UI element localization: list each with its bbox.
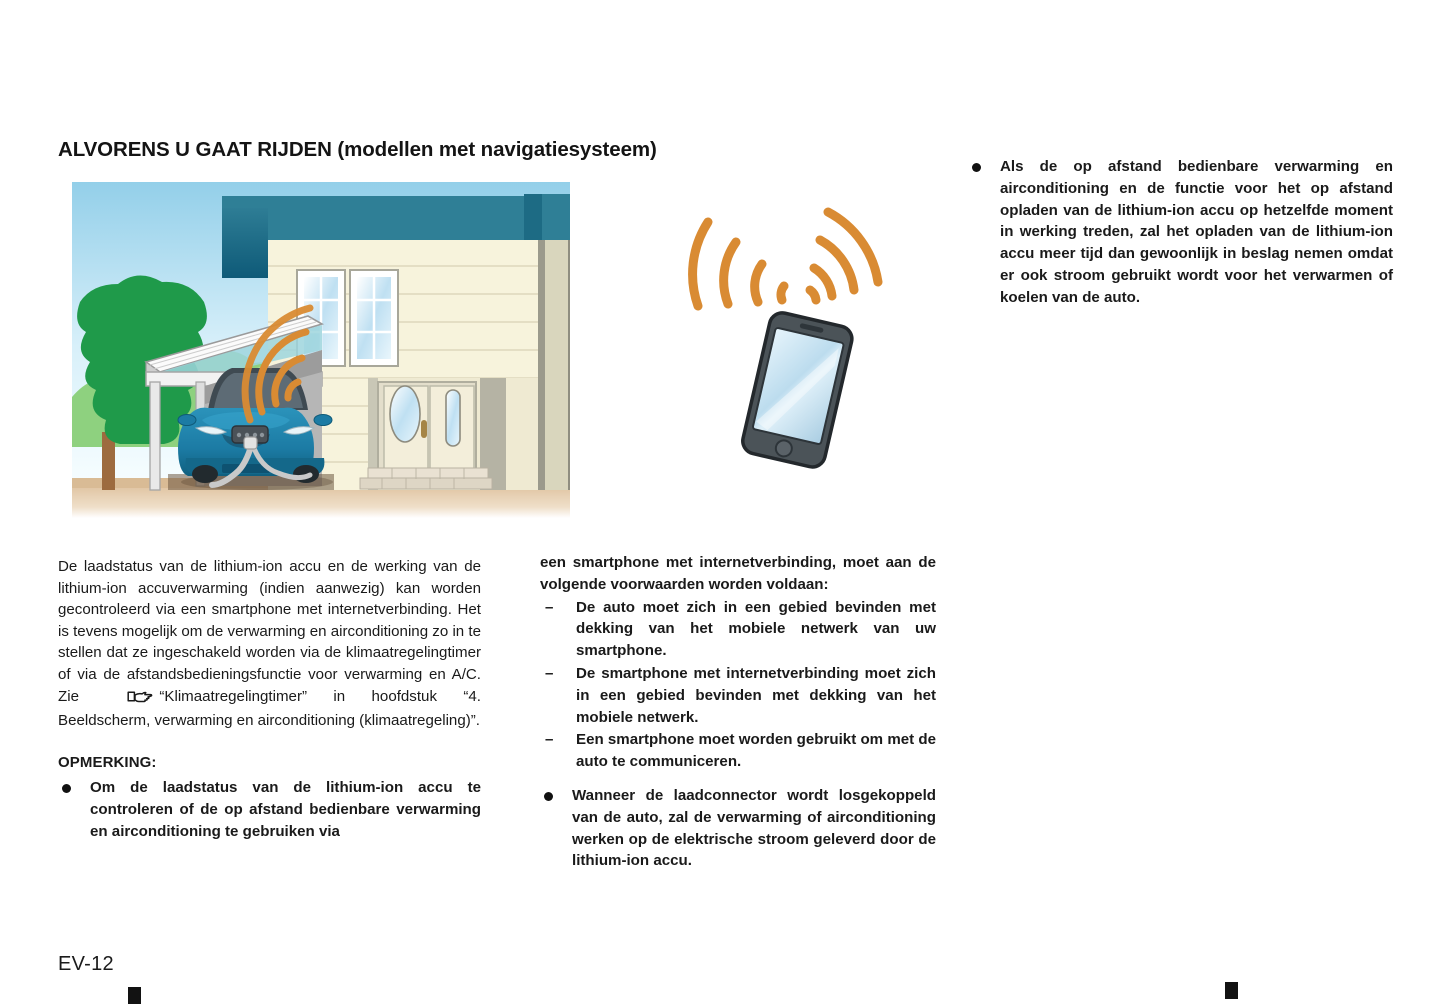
- phone-signal-waves-left: [693, 222, 784, 306]
- left-note-list: Om de laadstatus van de lithium-ion accu…: [58, 777, 481, 842]
- note-heading: OPMERKING:: [58, 752, 481, 774]
- roof-left-fascia: [222, 208, 268, 278]
- smartphone: [740, 310, 854, 469]
- conditions-list: De auto moet zich in een gebied bevinden…: [540, 597, 936, 773]
- condition-intro: een smartphone met internetverbinding, m…: [540, 552, 936, 596]
- house-car-smartphone-illustration: [72, 182, 904, 518]
- entrance-steps: [360, 468, 492, 489]
- page-number: EV-12: [58, 953, 114, 976]
- upper-window-right: [350, 270, 398, 366]
- registration-mark-right: [1225, 982, 1238, 999]
- charging-connector: [244, 437, 257, 449]
- list-item: Wanneer de laadconnector wordt losgekopp…: [540, 785, 936, 872]
- list-item: Een smartphone moet worden gebruikt om m…: [540, 729, 936, 773]
- list-item: Om de laadstatus van de lithium-ion accu…: [58, 777, 481, 842]
- house-wall-corner: [542, 240, 572, 490]
- door-handle: [421, 420, 427, 438]
- list-item: De auto moet zich in een gebied bevinden…: [540, 597, 936, 662]
- middle-note-list: Wanneer de laadconnector wordt losgekopp…: [540, 785, 936, 872]
- smartphone-scene: [693, 212, 878, 470]
- left-text-column: De laadstatus van de lithium-ion accu en…: [58, 556, 481, 843]
- house-corner-post: [538, 240, 545, 490]
- intro-paragraph: De laadstatus van de lithium-ion accu en…: [58, 556, 481, 732]
- registration-mark-left: [128, 987, 141, 1004]
- manual-page: ALVORENS U GAAT RIJDEN (modellen met nav…: [0, 0, 1445, 1004]
- roof-right-wing: [542, 194, 624, 242]
- siding-lines-right: [572, 274, 632, 470]
- cross-reference-text: “Klimaatregelingtimer” in hoofdstuk “4. …: [58, 688, 481, 730]
- list-item: Als de op afstand bedienbare verwarming …: [968, 156, 1393, 309]
- pointing-hand-icon: [127, 689, 153, 711]
- phone-signal-waves-right: [810, 212, 878, 300]
- house-corner-post-2: [568, 240, 574, 490]
- page-title: ALVORENS U GAAT RIJDEN (modellen met nav…: [58, 138, 657, 162]
- entrance-doors: [378, 382, 476, 480]
- right-note-list: Als de op afstand bedienbare verwarming …: [968, 156, 1393, 309]
- house-wall-right: [572, 240, 632, 490]
- middle-text-column: een smartphone met internetverbinding, m…: [540, 552, 936, 872]
- list-item: De smartphone met internetverbinding moe…: [540, 663, 936, 728]
- intro-paragraph-text: De laadstatus van de lithium-ion accu en…: [58, 558, 481, 705]
- right-text-column: Als de op afstand bedienbare verwarming …: [968, 152, 1393, 309]
- house-scene: [72, 182, 632, 518]
